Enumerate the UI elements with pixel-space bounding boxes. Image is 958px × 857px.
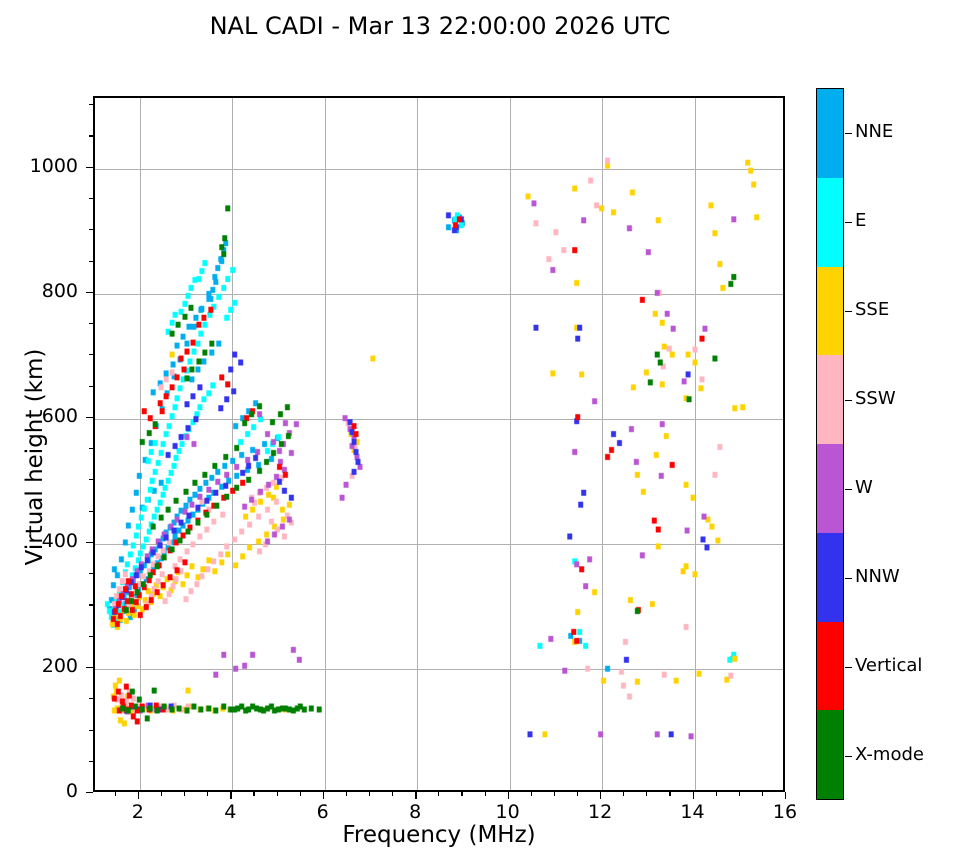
y-axis-label: Virtual height (km) xyxy=(22,277,48,637)
x-tick-minor xyxy=(438,792,439,796)
colorbar-label-nnw: NNW xyxy=(855,566,900,587)
colorbar-tick xyxy=(845,133,852,134)
colorbar-label-vertical: Vertical xyxy=(855,655,922,676)
colorbar-segment-nnw[interactable] xyxy=(817,533,843,622)
x-tick-label: 2 xyxy=(108,801,168,823)
x-tick-major xyxy=(323,792,324,799)
x-tick-minor xyxy=(623,792,624,796)
y-tick-major xyxy=(86,167,93,168)
x-tick-label: 16 xyxy=(755,801,815,823)
x-tick-major xyxy=(508,792,509,799)
y-tick-minor xyxy=(89,511,93,512)
y-tick-minor xyxy=(89,761,93,762)
x-tick-minor xyxy=(161,792,162,796)
x-tick-minor xyxy=(207,792,208,796)
colorbar-label-nne: NNE xyxy=(855,121,893,142)
y-tick-minor xyxy=(89,479,93,480)
x-tick-major xyxy=(415,792,416,799)
y-tick-minor xyxy=(89,386,93,387)
y-tick-major xyxy=(86,792,93,793)
y-tick-major xyxy=(86,667,93,668)
x-tick-label: 14 xyxy=(663,801,723,823)
y-tick-major xyxy=(86,292,93,293)
y-tick-label: 200 xyxy=(0,655,78,677)
x-tick-minor xyxy=(115,792,116,796)
x-tick-minor xyxy=(392,792,393,796)
y-tick-minor xyxy=(89,698,93,699)
y-tick-minor xyxy=(89,573,93,574)
colorbar-tick xyxy=(845,489,852,490)
x-tick-minor xyxy=(716,792,717,796)
x-tick-minor xyxy=(253,792,254,796)
x-tick-minor xyxy=(531,792,532,796)
y-tick-minor xyxy=(89,354,93,355)
x-tick-major xyxy=(600,792,601,799)
x-tick-minor xyxy=(369,792,370,796)
colorbar-tick xyxy=(845,578,852,579)
colorbar-tick xyxy=(845,756,852,757)
plot-area[interactable] xyxy=(93,96,785,792)
y-tick-label: 0 xyxy=(0,780,78,802)
colorbar-label-ssw: SSW xyxy=(855,388,896,409)
x-tick-minor xyxy=(554,792,555,796)
y-tick-major xyxy=(86,417,93,418)
y-tick-minor xyxy=(89,198,93,199)
ionogram-figure: NAL CADI - Mar 13 22:00:00 2026 UTC 2468… xyxy=(0,0,958,857)
x-tick-label: 8 xyxy=(385,801,445,823)
scatter-data-canvas xyxy=(95,98,783,790)
colorbar-segment-x-mode[interactable] xyxy=(817,710,843,799)
x-tick-minor xyxy=(485,792,486,796)
colorbar-segment-sse[interactable] xyxy=(817,267,843,356)
y-tick-minor xyxy=(89,261,93,262)
x-tick-major xyxy=(693,792,694,799)
colorbar-segment-w[interactable] xyxy=(817,444,843,533)
x-tick-minor xyxy=(346,792,347,796)
y-tick-minor xyxy=(89,135,93,136)
x-tick-label: 4 xyxy=(200,801,260,823)
colorbar-tick xyxy=(845,311,852,312)
x-tick-label: 12 xyxy=(570,801,630,823)
colorbar-segment-vertical[interactable] xyxy=(817,622,843,711)
azimuth-colorbar[interactable] xyxy=(816,88,844,800)
x-tick-minor xyxy=(739,792,740,796)
colorbar-segment-ssw[interactable] xyxy=(817,355,843,444)
x-axis-label: Frequency (MHz) xyxy=(93,822,785,848)
y-tick-minor xyxy=(89,448,93,449)
y-tick-label: 1000 xyxy=(0,155,78,177)
colorbar-tick xyxy=(845,667,852,668)
colorbar-segment-e[interactable] xyxy=(817,178,843,267)
x-tick-minor xyxy=(277,792,278,796)
x-tick-minor xyxy=(300,792,301,796)
colorbar-label-sse: SSE xyxy=(855,299,889,320)
colorbar-label-e: E xyxy=(855,210,866,231)
y-tick-minor xyxy=(89,636,93,637)
y-tick-major xyxy=(86,542,93,543)
x-tick-minor xyxy=(461,792,462,796)
x-tick-label: 6 xyxy=(293,801,353,823)
x-tick-minor xyxy=(577,792,578,796)
x-tick-minor xyxy=(646,792,647,796)
y-tick-minor xyxy=(89,323,93,324)
x-tick-major xyxy=(138,792,139,799)
chart-title: NAL CADI - Mar 13 22:00:00 2026 UTC xyxy=(0,12,880,40)
colorbar-label-x-mode: X-mode xyxy=(855,744,924,765)
y-tick-minor xyxy=(89,104,93,105)
colorbar-tick xyxy=(845,222,852,223)
x-tick-minor xyxy=(762,792,763,796)
x-tick-major xyxy=(230,792,231,799)
x-tick-label: 10 xyxy=(478,801,538,823)
y-tick-minor xyxy=(89,604,93,605)
x-tick-major xyxy=(785,792,786,799)
y-tick-minor xyxy=(89,229,93,230)
colorbar-label-w: W xyxy=(855,477,873,498)
colorbar-segment-nne[interactable] xyxy=(817,89,843,178)
y-tick-minor xyxy=(89,730,93,731)
colorbar-tick xyxy=(845,400,852,401)
x-tick-minor xyxy=(669,792,670,796)
x-tick-minor xyxy=(184,792,185,796)
